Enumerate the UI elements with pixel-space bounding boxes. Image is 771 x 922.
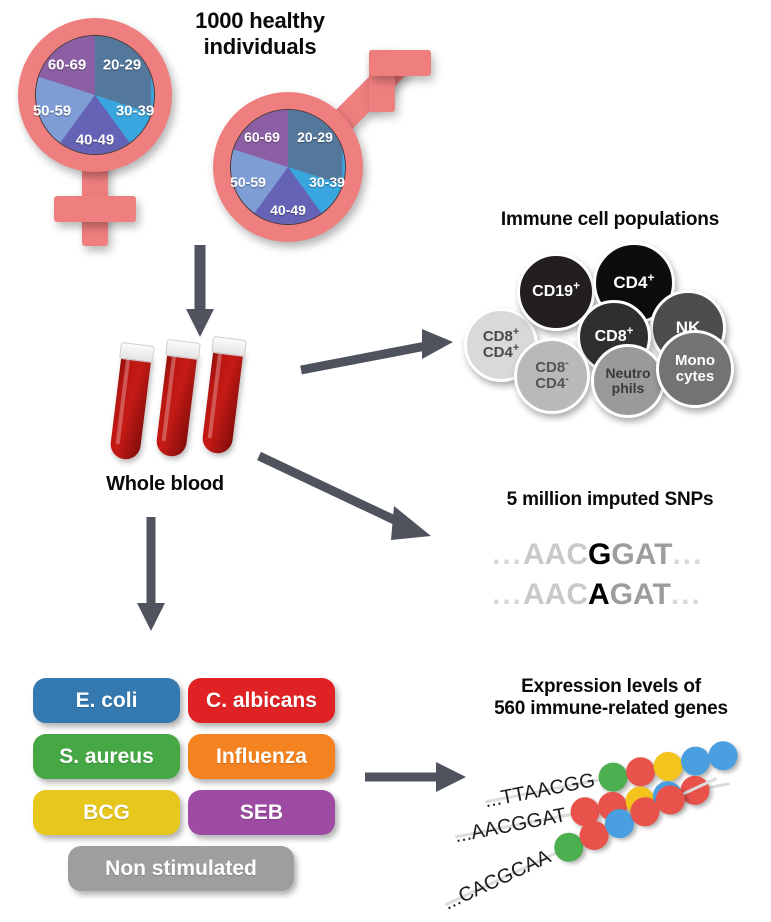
cell-label: Monocytes [675,353,715,384]
expression-title: Expression levels of 560 immune-related … [455,676,767,721]
snp-sequence-row-1: ...AACGGAT... [492,538,703,572]
blood-tube [107,342,155,463]
blood-tube [153,339,201,460]
cell-label: CD8+ [595,329,634,346]
snp-leading-ellipsis: ... [492,578,523,611]
rna-sequence-label: ...CACGCAA [440,846,554,916]
snp-suffix: GAT [610,578,671,611]
stimulus-bcg[interactable]: BCG [33,790,180,835]
female-stem-horizontal [54,196,136,222]
female-pie-label-30-39: 30-39 [116,103,154,120]
snp-sequence-row-2: ...AACAGAT... [492,578,702,612]
immune-cells-title: Immune cell populations [455,209,765,231]
immune-cells-group: CD8+CD4+ CD19+ CD4+ NK CD8+ CD8-CD4- Neu… [460,240,760,415]
male-pie-label-60-69: 60-69 [244,129,280,145]
male-pie-label-50-59: 50-59 [230,174,266,190]
stimulus-non-stimulated[interactable]: Non stimulated [68,846,294,891]
snp-variant-allele: A [588,578,610,611]
female-symbol: 20-29 30-39 40-49 50-59 60-69 [10,10,190,240]
stimulus-c-albicans[interactable]: C. albicans [188,678,335,723]
male-symbol: 20-29 30-39 40-49 50-59 60-69 [205,40,420,240]
cell-cd8neg-cd4neg: CD8-CD4- [514,338,590,414]
snp-leading-ellipsis: ... [492,538,523,571]
whole-blood-label: Whole blood [75,473,255,497]
stimulus-seb[interactable]: SEB [188,790,335,835]
tube-blood-fill [109,352,152,461]
female-pie-label-40-49: 40-49 [76,132,114,149]
arrow-blood-to-stimuli [131,515,171,635]
cell-monocytes: Monocytes [656,330,734,408]
tube-blood-fill [201,346,244,455]
female-pie-label-60-69: 60-69 [48,57,86,74]
blood-tube [199,336,247,457]
expression-title-line1: Expression levels of [455,676,767,698]
cell-label: CD4+ [613,274,654,292]
male-pie-label-40-49: 40-49 [270,202,306,218]
male-arrowhead-horizontal [369,50,431,76]
tube-blood-fill [155,349,198,458]
stimulus-e-coli[interactable]: E. coli [33,678,180,723]
female-pie-label-50-59: 50-59 [33,103,71,120]
male-pie-label-20-29: 20-29 [297,129,333,145]
snp-suffix: GAT [611,538,672,571]
snp-prefix: AAC [523,538,588,571]
snp-prefix: AAC [523,578,588,611]
snp-trailing-ellipsis: ... [672,538,703,571]
stimuli-group: E. coli C. albicans S. aureus Influenza … [30,678,350,898]
rna-strands-group: ...TTAACGG ...AACGGAT ...CACGCAA [455,740,771,910]
cell-label: CD8+CD4+ [483,329,519,360]
snp-trailing-ellipsis: ... [671,578,702,611]
female-pie-label-20-29: 20-29 [103,57,141,74]
expression-title-line2: 560 immune-related genes [455,698,767,720]
stimulus-s-aureus[interactable]: S. aureus [33,734,180,779]
arrow-blood-to-snps [255,448,445,548]
cell-label: CD8-CD4- [535,360,569,391]
cell-neutrophils: Neutrophils [591,344,665,418]
stimulus-influenza[interactable]: Influenza [188,734,335,779]
cohort-title-line1: 1000 healthy [160,8,360,34]
arrow-cohort-to-blood [180,243,220,343]
snp-variant-allele: G [588,538,611,571]
snps-title: 5 million imputed SNPs [455,489,765,511]
cell-label: Neutrophils [605,366,650,395]
arrow-blood-to-immune-cells [298,325,458,385]
male-pie-label-30-39: 30-39 [309,174,345,190]
cell-label: CD19+ [532,284,580,301]
